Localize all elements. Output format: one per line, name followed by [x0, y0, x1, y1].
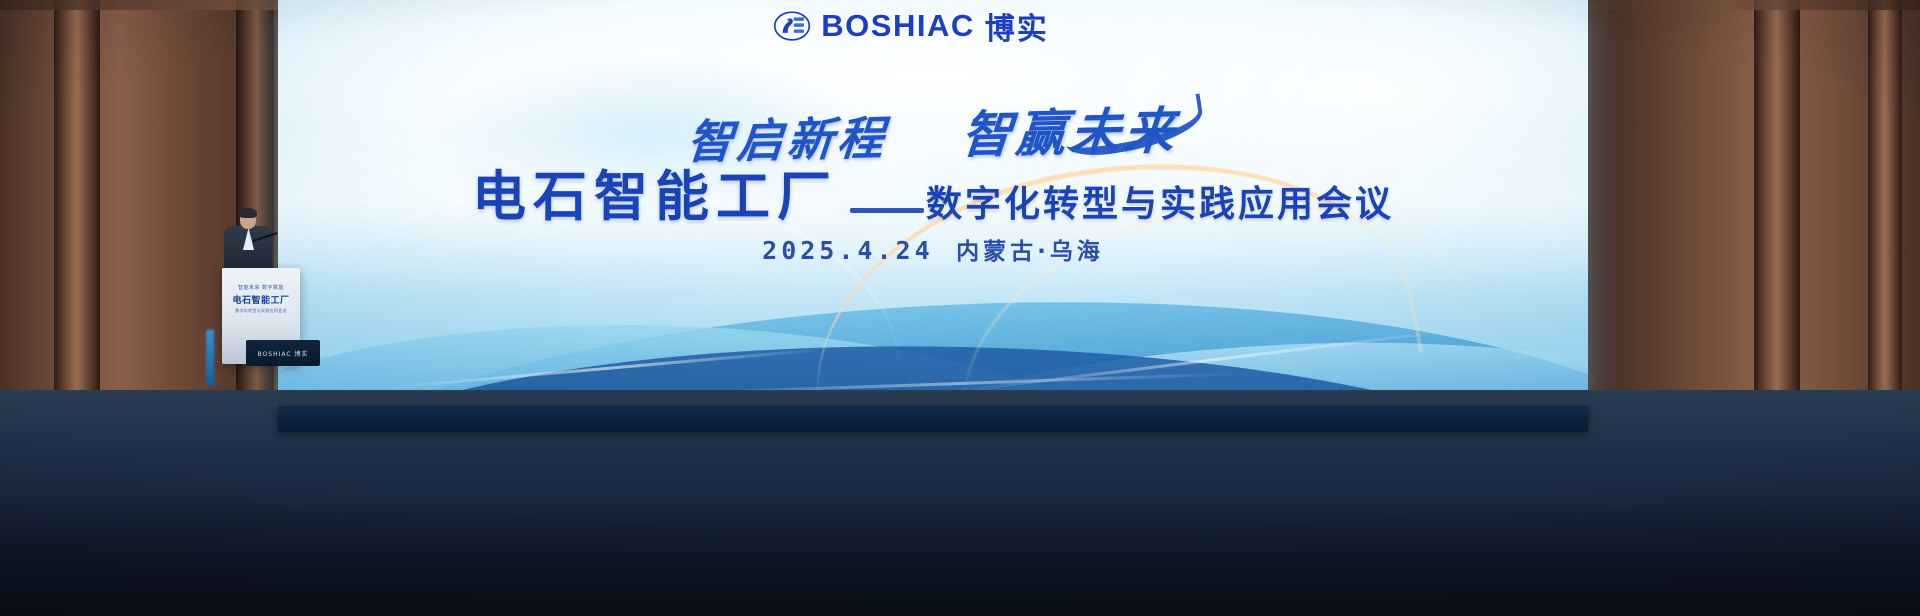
conference-title-sub: 数字化转型与实践应用会议	[926, 175, 1394, 231]
conference-date: 2025.4.24	[762, 236, 933, 265]
podium-banner-title: 电石智能工厂	[232, 293, 289, 306]
conference-photo-scene: BOSHIAC 博实 智启新程 智赢未来 电石智能工厂 数字化转型与实践应用会议…	[0, 0, 1920, 616]
title-dash-rule	[850, 208, 924, 213]
conference-title-main: 电石智能工厂	[472, 152, 838, 231]
headline-row: 电石智能工厂 数字化转型与实践应用会议	[278, 152, 1588, 231]
boshiac-oval-logo-icon	[773, 9, 811, 43]
conference-location: 内蒙古·乌海	[956, 239, 1104, 265]
audience-area: []	[0, 316, 1920, 616]
podium-banner-subtitle: 数字化转型与实践应用会议	[235, 308, 287, 314]
podium-banner-tagline: 智能未来 数字赋能	[238, 284, 284, 291]
brand-chinese-name: 博实	[985, 4, 1049, 48]
brand-latin-name: BOSHIAC	[821, 8, 974, 44]
brand-lockup: BOSHIAC 博实	[278, 4, 1566, 48]
conference-meta: 2025.4.24 内蒙古·乌海	[278, 232, 1588, 266]
speaker-hair	[239, 208, 257, 218]
